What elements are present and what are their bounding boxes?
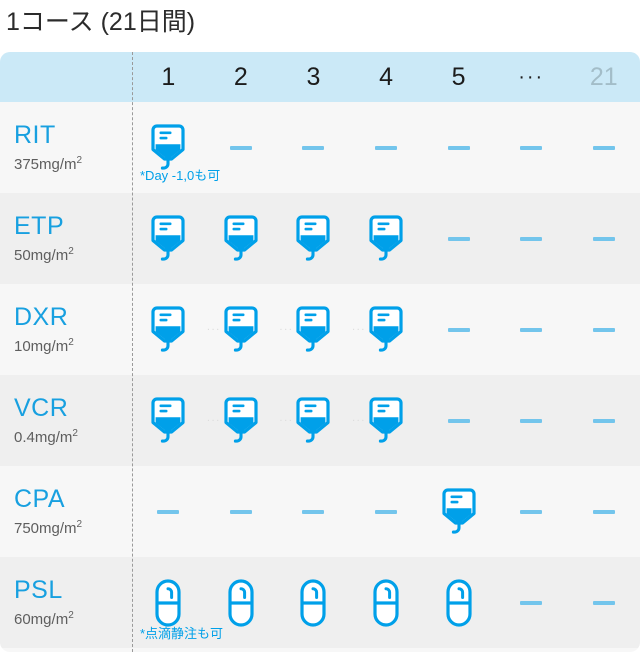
dose-cell-content <box>495 375 568 466</box>
iv-drip-bag-icon <box>367 396 405 446</box>
dose-cell-dxr-day-···[interactable] <box>495 284 568 375</box>
dose-cell-psl-day-21[interactable] <box>567 557 640 648</box>
table-row: PSL60mg/m2 *点滴静注も可 <box>0 557 640 648</box>
table-row: VCR0.4mg/m2 ··· ··· ··· <box>0 375 640 466</box>
decorative-dots-icon: ··· <box>279 324 293 335</box>
drug-label-cell-etp: ETP50mg/m2 <box>0 193 132 284</box>
dose-cell-content: ··· <box>205 284 278 375</box>
iv-drip-bag-icon <box>222 396 260 446</box>
dose-cell-content <box>350 557 423 648</box>
drug-dose: 50mg/m2 <box>14 242 132 266</box>
table-body: RIT375mg/m2 *Day -1,0も可ETP50mg/m2 DXR10m… <box>0 102 640 648</box>
iv-drip-bag-icon <box>294 214 332 264</box>
dose-cell-vcr-day-1[interactable] <box>132 375 205 466</box>
chemotherapy-schedule-page: 1コース (21日間) 12345···21 RIT375mg/m2 *Day … <box>0 0 640 652</box>
decorative-dots-icon: ··· <box>352 324 366 335</box>
no-dose-dash-icon <box>593 510 615 514</box>
dose-cell-content: ··· <box>350 375 423 466</box>
dose-cell-rit-day-21[interactable] <box>567 102 640 193</box>
capsule-icon <box>227 578 255 628</box>
dose-cell-content <box>567 557 640 648</box>
no-dose-dash-icon <box>230 510 252 514</box>
no-dose-dash-icon <box>593 237 615 241</box>
dose-cell-rit-day-1[interactable]: *Day -1,0も可 <box>132 102 205 193</box>
dose-cell-content <box>567 466 640 557</box>
dose-cell-content <box>132 193 205 284</box>
dose-cell-content <box>350 193 423 284</box>
dose-cell-psl-day-5[interactable] <box>422 557 495 648</box>
dose-cell-content <box>422 557 495 648</box>
page-title: 1コース (21日間) <box>6 2 195 42</box>
dose-cell-psl-day-4[interactable] <box>350 557 423 648</box>
dose-cell-content <box>350 102 423 193</box>
no-dose-dash-icon <box>448 146 470 150</box>
no-dose-dash-icon <box>448 419 470 423</box>
dose-cell-dxr-day-1[interactable] <box>132 284 205 375</box>
dose-cell-rit-day-4[interactable] <box>350 102 423 193</box>
dose-cell-content <box>350 466 423 557</box>
no-dose-dash-icon <box>520 601 542 605</box>
iv-drip-bag-icon <box>149 214 187 264</box>
capsule-icon <box>372 578 400 628</box>
drug-dose-exponent: 2 <box>72 428 78 439</box>
decorative-dots-icon: ··· <box>207 415 221 426</box>
table-header-row: 12345···21 <box>0 52 640 102</box>
iv-drip-bag-icon <box>367 305 405 355</box>
drug-dose: 375mg/m2 <box>14 151 132 175</box>
decorative-dots-icon: ··· <box>352 415 366 426</box>
drug-dose-exponent: 2 <box>77 519 83 530</box>
dose-cell-vcr-day-···[interactable] <box>495 375 568 466</box>
dose-cell-content <box>567 375 640 466</box>
dose-cell-psl-day-1[interactable]: *点滴静注も可 <box>132 557 205 648</box>
no-dose-dash-icon <box>375 510 397 514</box>
dose-cell-cpa-day-5[interactable] <box>422 466 495 557</box>
no-dose-dash-icon <box>520 510 542 514</box>
drug-name: DXR <box>14 303 132 331</box>
no-dose-dash-icon <box>448 328 470 332</box>
header-day-ellipsis[interactable]: ··· <box>495 52 568 102</box>
drug-dose-value: 60mg/m <box>14 611 68 628</box>
header-day-3[interactable]: 3 <box>277 52 350 102</box>
no-dose-dash-icon <box>593 601 615 605</box>
no-dose-dash-icon <box>520 146 542 150</box>
dose-cell-content: ··· <box>205 375 278 466</box>
capsule-icon <box>154 578 182 628</box>
dose-cell-etp-day-···[interactable] <box>495 193 568 284</box>
no-dose-dash-icon <box>520 419 542 423</box>
drug-dose: 0.4mg/m2 <box>14 424 132 448</box>
no-dose-dash-icon <box>302 146 324 150</box>
dose-cell-cpa-day-21[interactable] <box>567 466 640 557</box>
drug-dose-exponent: 2 <box>68 610 74 621</box>
iv-drip-bag-icon <box>367 214 405 264</box>
no-dose-dash-icon <box>448 237 470 241</box>
drug-dose: 10mg/m2 <box>14 333 132 357</box>
dose-cell-rit-day-3[interactable] <box>277 102 350 193</box>
header-day-21[interactable]: 21 <box>567 52 640 102</box>
drug-label-cell-dxr: DXR10mg/m2 <box>0 284 132 375</box>
dose-cell-dxr-day-21[interactable] <box>567 284 640 375</box>
no-dose-dash-icon <box>375 146 397 150</box>
dose-cell-psl-day-2[interactable] <box>205 557 278 648</box>
dose-cell-dxr-day-3[interactable]: ··· <box>277 284 350 375</box>
dose-cell-content <box>422 102 495 193</box>
drug-dose-value: 375mg/m <box>14 156 77 173</box>
dose-cell-cpa-day-4[interactable] <box>350 466 423 557</box>
dose-cell-content <box>495 557 568 648</box>
drug-dose-value: 10mg/m <box>14 338 68 355</box>
dose-cell-cpa-day-2[interactable] <box>205 466 278 557</box>
dose-cell-etp-day-5[interactable] <box>422 193 495 284</box>
dose-cell-etp-day-3[interactable] <box>277 193 350 284</box>
drug-dose-value: 50mg/m <box>14 247 68 264</box>
dose-cell-vcr-day-4[interactable]: ··· <box>350 375 423 466</box>
schedule-table: 12345···21 RIT375mg/m2 *Day -1,0も可ETP50m… <box>0 52 640 652</box>
dose-cell-content <box>495 284 568 375</box>
dose-cell-cpa-day-···[interactable] <box>495 466 568 557</box>
dose-cell-dxr-day-5[interactable] <box>422 284 495 375</box>
drug-dose: 60mg/m2 <box>14 606 132 630</box>
dose-cell-psl-day-3[interactable] <box>277 557 350 648</box>
dose-cell-dxr-day-4[interactable]: ··· <box>350 284 423 375</box>
dose-cell-etp-day-2[interactable] <box>205 193 278 284</box>
dose-cell-content <box>277 193 350 284</box>
table-row: ETP50mg/m2 <box>0 193 640 284</box>
dose-cell-content <box>277 466 350 557</box>
dose-cell-content <box>495 466 568 557</box>
header-day-2[interactable]: 2 <box>205 52 278 102</box>
dose-cell-rit-day-···[interactable] <box>495 102 568 193</box>
drug-label-cell-vcr: VCR0.4mg/m2 <box>0 375 132 466</box>
no-dose-dash-icon <box>520 328 542 332</box>
no-dose-dash-icon <box>230 146 252 150</box>
drug-name: PSL <box>14 576 132 604</box>
drug-dose: 750mg/m2 <box>14 515 132 539</box>
no-dose-dash-icon <box>593 146 615 150</box>
dose-cell-content <box>205 102 278 193</box>
dose-cell-content <box>132 375 205 466</box>
dose-cell-content <box>132 466 205 557</box>
dose-cell-content <box>567 102 640 193</box>
dose-cell-content <box>422 193 495 284</box>
dose-cell-content <box>495 193 568 284</box>
decorative-dots-icon: ··· <box>207 324 221 335</box>
dose-cell-content <box>205 466 278 557</box>
dose-cell-content <box>422 375 495 466</box>
dose-cell-content <box>205 193 278 284</box>
capsule-icon <box>299 578 327 628</box>
dose-cell-etp-day-1[interactable] <box>132 193 205 284</box>
iv-drip-bag-icon <box>222 214 260 264</box>
iv-drip-bag-icon <box>294 305 332 355</box>
drug-name: CPA <box>14 485 132 513</box>
no-dose-dash-icon <box>302 510 324 514</box>
drug-dose-value: 750mg/m <box>14 520 77 537</box>
iv-drip-bag-icon <box>222 305 260 355</box>
drug-label-cell-cpa: CPA750mg/m2 <box>0 466 132 557</box>
dose-cell-vcr-day-2[interactable]: ··· <box>205 375 278 466</box>
dose-cell-content <box>495 102 568 193</box>
dose-cell-content <box>277 102 350 193</box>
dose-cell-vcr-day-21[interactable] <box>567 375 640 466</box>
dose-cell-vcr-day-3[interactable]: ··· <box>277 375 350 466</box>
dose-cell-content <box>567 193 640 284</box>
header-day-4[interactable]: 4 <box>350 52 423 102</box>
iv-drip-bag-icon <box>149 123 187 173</box>
header-day-5[interactable]: 5 <box>422 52 495 102</box>
table-row: RIT375mg/m2 *Day -1,0も可 <box>0 102 640 193</box>
decorative-dots-icon: ··· <box>279 415 293 426</box>
dose-cell-content <box>567 284 640 375</box>
dose-cell-rit-day-5[interactable] <box>422 102 495 193</box>
header-day-1[interactable]: 1 <box>132 52 205 102</box>
dose-cell-content <box>205 557 278 648</box>
dose-cell-dxr-day-2[interactable]: ··· <box>205 284 278 375</box>
dose-cell-content: ··· <box>350 284 423 375</box>
dose-cell-content <box>132 284 205 375</box>
drug-label-cell-psl: PSL60mg/m2 <box>0 557 132 648</box>
dose-cell-vcr-day-5[interactable] <box>422 375 495 466</box>
drug-label-cell-rit: RIT375mg/m2 <box>0 102 132 193</box>
iv-drip-bag-icon <box>440 487 478 537</box>
no-dose-dash-icon <box>593 328 615 332</box>
dose-cell-psl-day-···[interactable] <box>495 557 568 648</box>
no-dose-dash-icon <box>520 237 542 241</box>
dose-cell-cpa-day-1[interactable] <box>132 466 205 557</box>
dose-cell-etp-day-21[interactable] <box>567 193 640 284</box>
drug-name: RIT <box>14 121 132 149</box>
drug-dose-value: 0.4mg/m <box>14 429 72 446</box>
drug-dose-exponent: 2 <box>77 155 83 166</box>
iv-drip-bag-icon <box>149 396 187 446</box>
dose-cell-content <box>422 284 495 375</box>
drug-name: ETP <box>14 212 132 240</box>
iv-drip-bag-icon <box>294 396 332 446</box>
table-row: DXR10mg/m2 ··· ··· ··· <box>0 284 640 375</box>
dose-cell-content: ··· <box>277 284 350 375</box>
dose-cell-content <box>277 557 350 648</box>
dose-cell-content <box>422 466 495 557</box>
dose-cell-content: ··· <box>277 375 350 466</box>
iv-drip-bag-icon <box>149 305 187 355</box>
dose-cell-cpa-day-3[interactable] <box>277 466 350 557</box>
drug-name: VCR <box>14 394 132 422</box>
header-day-cells: 12345···21 <box>132 52 640 102</box>
table-row: CPA750mg/m2 <box>0 466 640 557</box>
no-dose-dash-icon <box>157 510 179 514</box>
header-drug-label-cell <box>0 52 132 102</box>
no-dose-dash-icon <box>593 419 615 423</box>
drug-dose-exponent: 2 <box>68 246 74 257</box>
drug-dose-exponent: 2 <box>68 337 74 348</box>
dose-cell-etp-day-4[interactable] <box>350 193 423 284</box>
capsule-icon <box>445 578 473 628</box>
dose-cell-rit-day-2[interactable] <box>205 102 278 193</box>
